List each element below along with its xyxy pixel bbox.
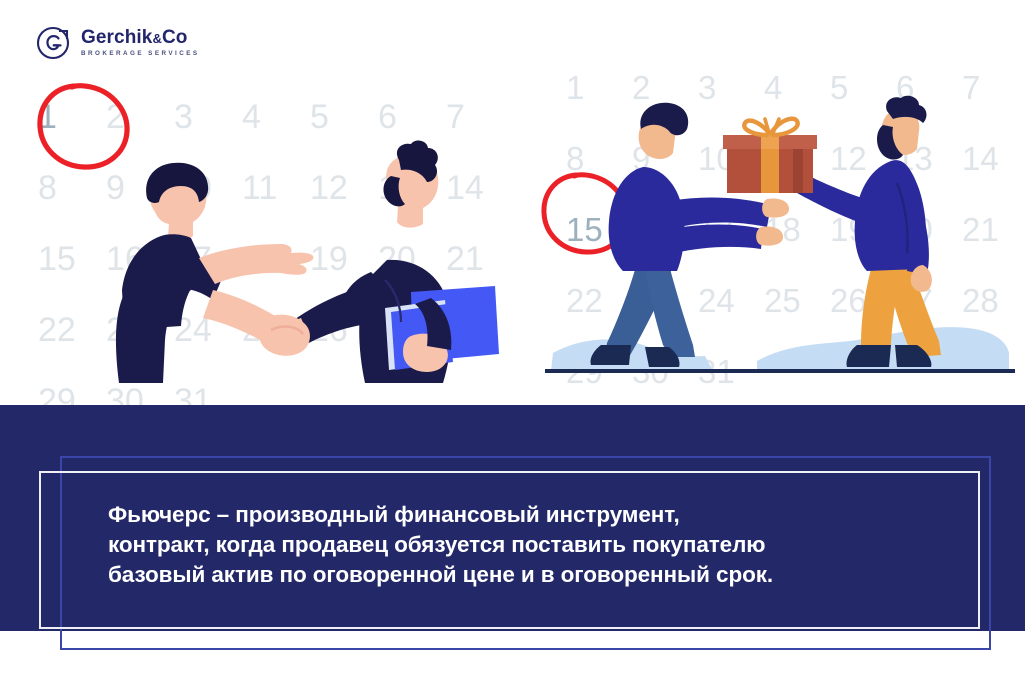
brand-logo-text: Gerchik&Co BROKERAGE SERVICES	[81, 28, 200, 57]
caption-text: Фьючерс – производный финансовый инструм…	[108, 500, 934, 590]
brand-name: Gerchik&Co	[81, 28, 200, 47]
handshake-illustration	[95, 140, 515, 385]
brand-logo: Gerchik&Co BROKERAGE SERVICES	[36, 25, 200, 61]
brand-tagline: BROKERAGE SERVICES	[81, 51, 200, 57]
gift-delivery-illustration	[545, 95, 1015, 385]
poster-canvas: Gerchik&Co BROKERAGE SERVICES 1234567891…	[0, 0, 1025, 684]
gerchik-monogram-icon	[36, 25, 72, 61]
